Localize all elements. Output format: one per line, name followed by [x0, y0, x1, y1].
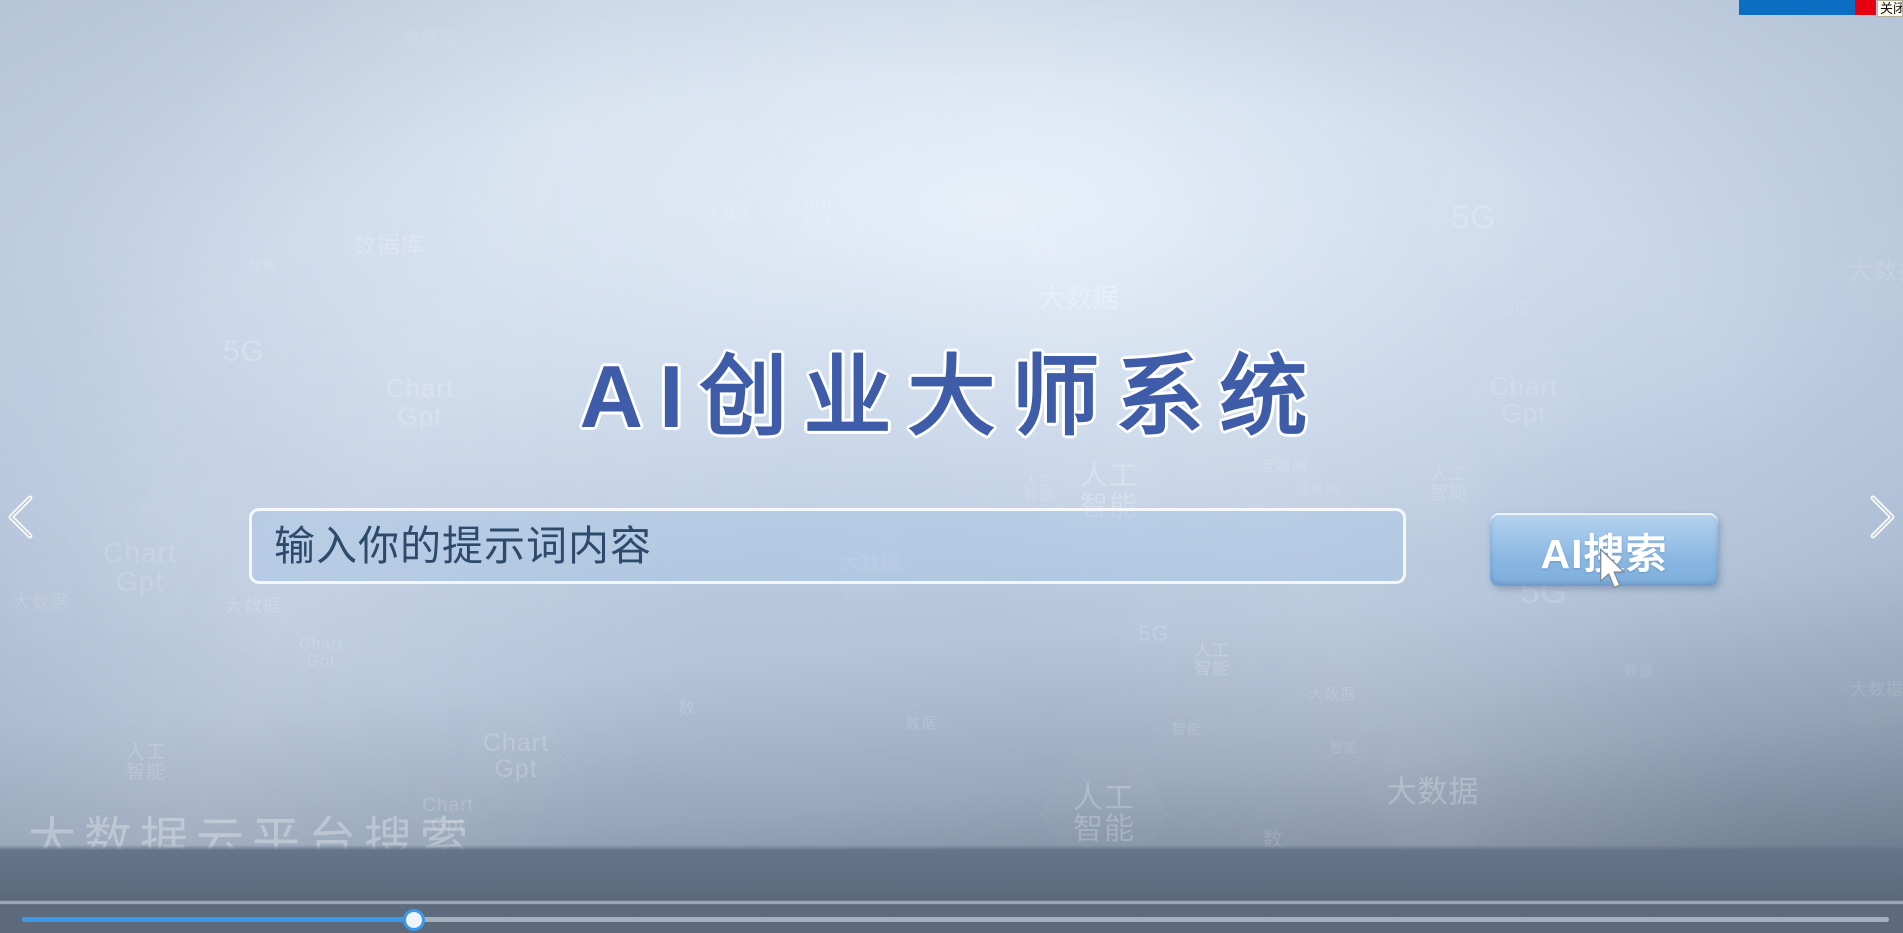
browser-tab-strip[interactable]: [1739, 0, 1855, 15]
bottom-band-divider: [0, 901, 1903, 904]
progress-slider-handle[interactable]: [403, 909, 425, 931]
background-gradient: [0, 0, 1903, 933]
progress-slider-fill: [22, 917, 414, 922]
ai-search-button[interactable]: AI搜索: [1490, 513, 1718, 586]
close-button[interactable]: 关闭: [1877, 0, 1903, 17]
progress-slider[interactable]: [0, 906, 1903, 933]
carousel-prev-button[interactable]: [0, 486, 46, 548]
carousel-next-button[interactable]: [1857, 486, 1903, 548]
search-input[interactable]: [249, 508, 1406, 584]
record-indicator: [1855, 0, 1876, 15]
app-screen: 数据库大数据5G5G5G5GChart GptChart GptChart Gp…: [0, 0, 1903, 933]
page-title: AI创业大师系统: [0, 326, 1903, 453]
window-chrome-strip: 关闭: [0, 0, 1903, 16]
